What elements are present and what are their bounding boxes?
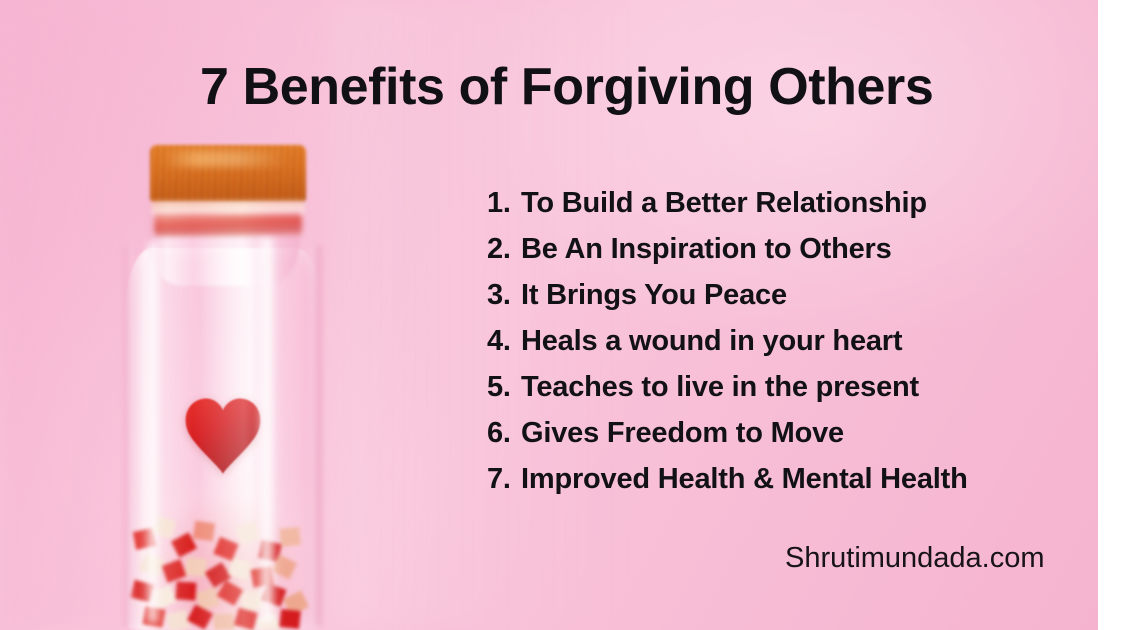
list-item: 6.Gives Freedom to Move <box>487 410 1087 456</box>
list-item-number: 1. <box>487 180 521 226</box>
page-title: 7 Benefits of Forgiving Others <box>200 57 1080 117</box>
bottle-edge-left <box>124 246 133 626</box>
list-item: 7.Improved Health & Mental Health <box>487 456 1087 502</box>
list-item-label: Teaches to live in the present <box>521 371 919 403</box>
benefits-list: 1.To Build a Better Relationship 2.Be An… <box>487 180 1087 502</box>
list-item: 5.Teaches to live in the present <box>487 364 1087 410</box>
bottle-collar-band <box>152 200 304 214</box>
list-item-number: 3. <box>487 272 521 318</box>
list-item-label: Gives Freedom to Move <box>521 417 844 449</box>
red-heart-icon <box>180 393 266 479</box>
bottle-red-ring <box>154 214 302 236</box>
list-item: 3.It Brings You Peace <box>487 272 1087 318</box>
right-white-margin <box>1098 0 1130 630</box>
bottle-glass-highlight-left <box>144 242 161 622</box>
list-item: 2.Be An Inspiration to Others <box>487 226 1087 272</box>
bottle-glass-highlight-right <box>256 238 278 622</box>
list-item-number: 2. <box>487 226 521 272</box>
list-item-label: Improved Health & Mental Health <box>521 463 968 495</box>
poster-canvas: 7 Benefits of Forgiving Others 1.To Buil… <box>0 0 1130 630</box>
footer-credit: Shrutimundada.com <box>785 539 1045 577</box>
list-item-number: 6. <box>487 410 521 456</box>
list-item: 4.Heals a wound in your heart <box>487 318 1087 364</box>
cork-highlight <box>162 151 288 167</box>
glass-bottle-photo <box>96 138 352 630</box>
list-item-label: Be An Inspiration to Others <box>521 233 892 265</box>
list-item: 1.To Build a Better Relationship <box>487 180 1087 226</box>
list-item-number: 5. <box>487 364 521 410</box>
list-item-label: Heals a wound in your heart <box>521 325 902 357</box>
list-item-label: It Brings You Peace <box>521 279 787 311</box>
bottle-edge-right <box>310 246 322 626</box>
list-item-number: 7. <box>487 456 521 502</box>
list-item-label: To Build a Better Relationship <box>521 187 927 219</box>
list-item-number: 4. <box>487 318 521 364</box>
